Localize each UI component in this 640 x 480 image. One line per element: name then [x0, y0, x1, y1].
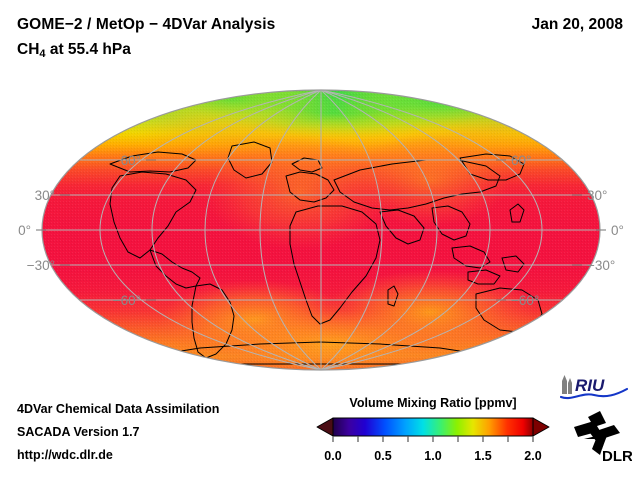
dlr-logo: DLR — [570, 409, 632, 465]
lat-label-left-30: 30° — [35, 188, 55, 203]
colorbar-tick-2: 1.0 — [424, 449, 441, 463]
colorbar-tick-labels: 0.0 0.5 1.0 1.5 2.0 — [313, 449, 553, 467]
colorbar-gradient — [313, 416, 553, 442]
global-methane-map: 60° 60° 30° 30° 0° 0° −30° −30° −60° −60… — [0, 72, 640, 384]
footer-line-version: SACADA Version 1.7 — [17, 425, 140, 439]
colorbar-title: Volume Mixing Ratio [ppmv] — [313, 396, 553, 410]
species-subscript: 4 — [39, 48, 45, 60]
lat-label-right-m60: −60° — [511, 293, 539, 308]
page-title: GOME−2 / MetOp − 4DVar Analysis — [17, 16, 275, 34]
colorbar-tick-4: 2.0 — [524, 449, 541, 463]
colorbar-tick-0: 0.0 — [324, 449, 341, 463]
riu-tower-icon-2 — [568, 378, 572, 394]
riu-wordmark: RIU — [575, 376, 605, 395]
lat-label-left-0: 0° — [18, 223, 31, 238]
colorbar-tick-1: 0.5 — [374, 449, 391, 463]
pressure-level-label: at 55.4 hPa — [46, 41, 131, 58]
footer-line-url[interactable]: http://wdc.dlr.de — [17, 448, 113, 462]
species-label: CH — [17, 41, 39, 58]
colorbar: Volume Mixing Ratio [ppmv] — [313, 396, 553, 467]
lat-label-right-0: 0° — [611, 223, 624, 238]
colorbar-over-arrow — [533, 418, 549, 436]
riu-tower-icon — [562, 375, 567, 394]
colorbar-ticks — [333, 436, 533, 442]
lat-label-right-m30: −30° — [587, 258, 615, 273]
date-label: Jan 20, 2008 — [532, 16, 623, 34]
dlr-wordmark: DLR — [602, 448, 632, 465]
footer-line-assimilation: 4DVar Chemical Data Assimilation — [17, 402, 219, 416]
lat-label-right-30: 30° — [587, 188, 607, 203]
page-subtitle: CH4 at 55.4 hPa — [17, 41, 131, 59]
lat-label-left-m30: −30° — [27, 258, 55, 273]
lat-label-left-60: 60° — [121, 153, 141, 168]
lat-label-right-60: 60° — [511, 153, 531, 168]
lat-label-left-m60: −60° — [113, 293, 141, 308]
colorbar-tick-3: 1.5 — [474, 449, 491, 463]
map-panel: 60° 60° 30° 30° 0° 0° −30° −30° −60° −60… — [0, 72, 640, 384]
colorbar-bar — [333, 418, 533, 436]
colorbar-under-arrow — [317, 418, 333, 436]
riu-logo: RIU — [558, 372, 630, 402]
